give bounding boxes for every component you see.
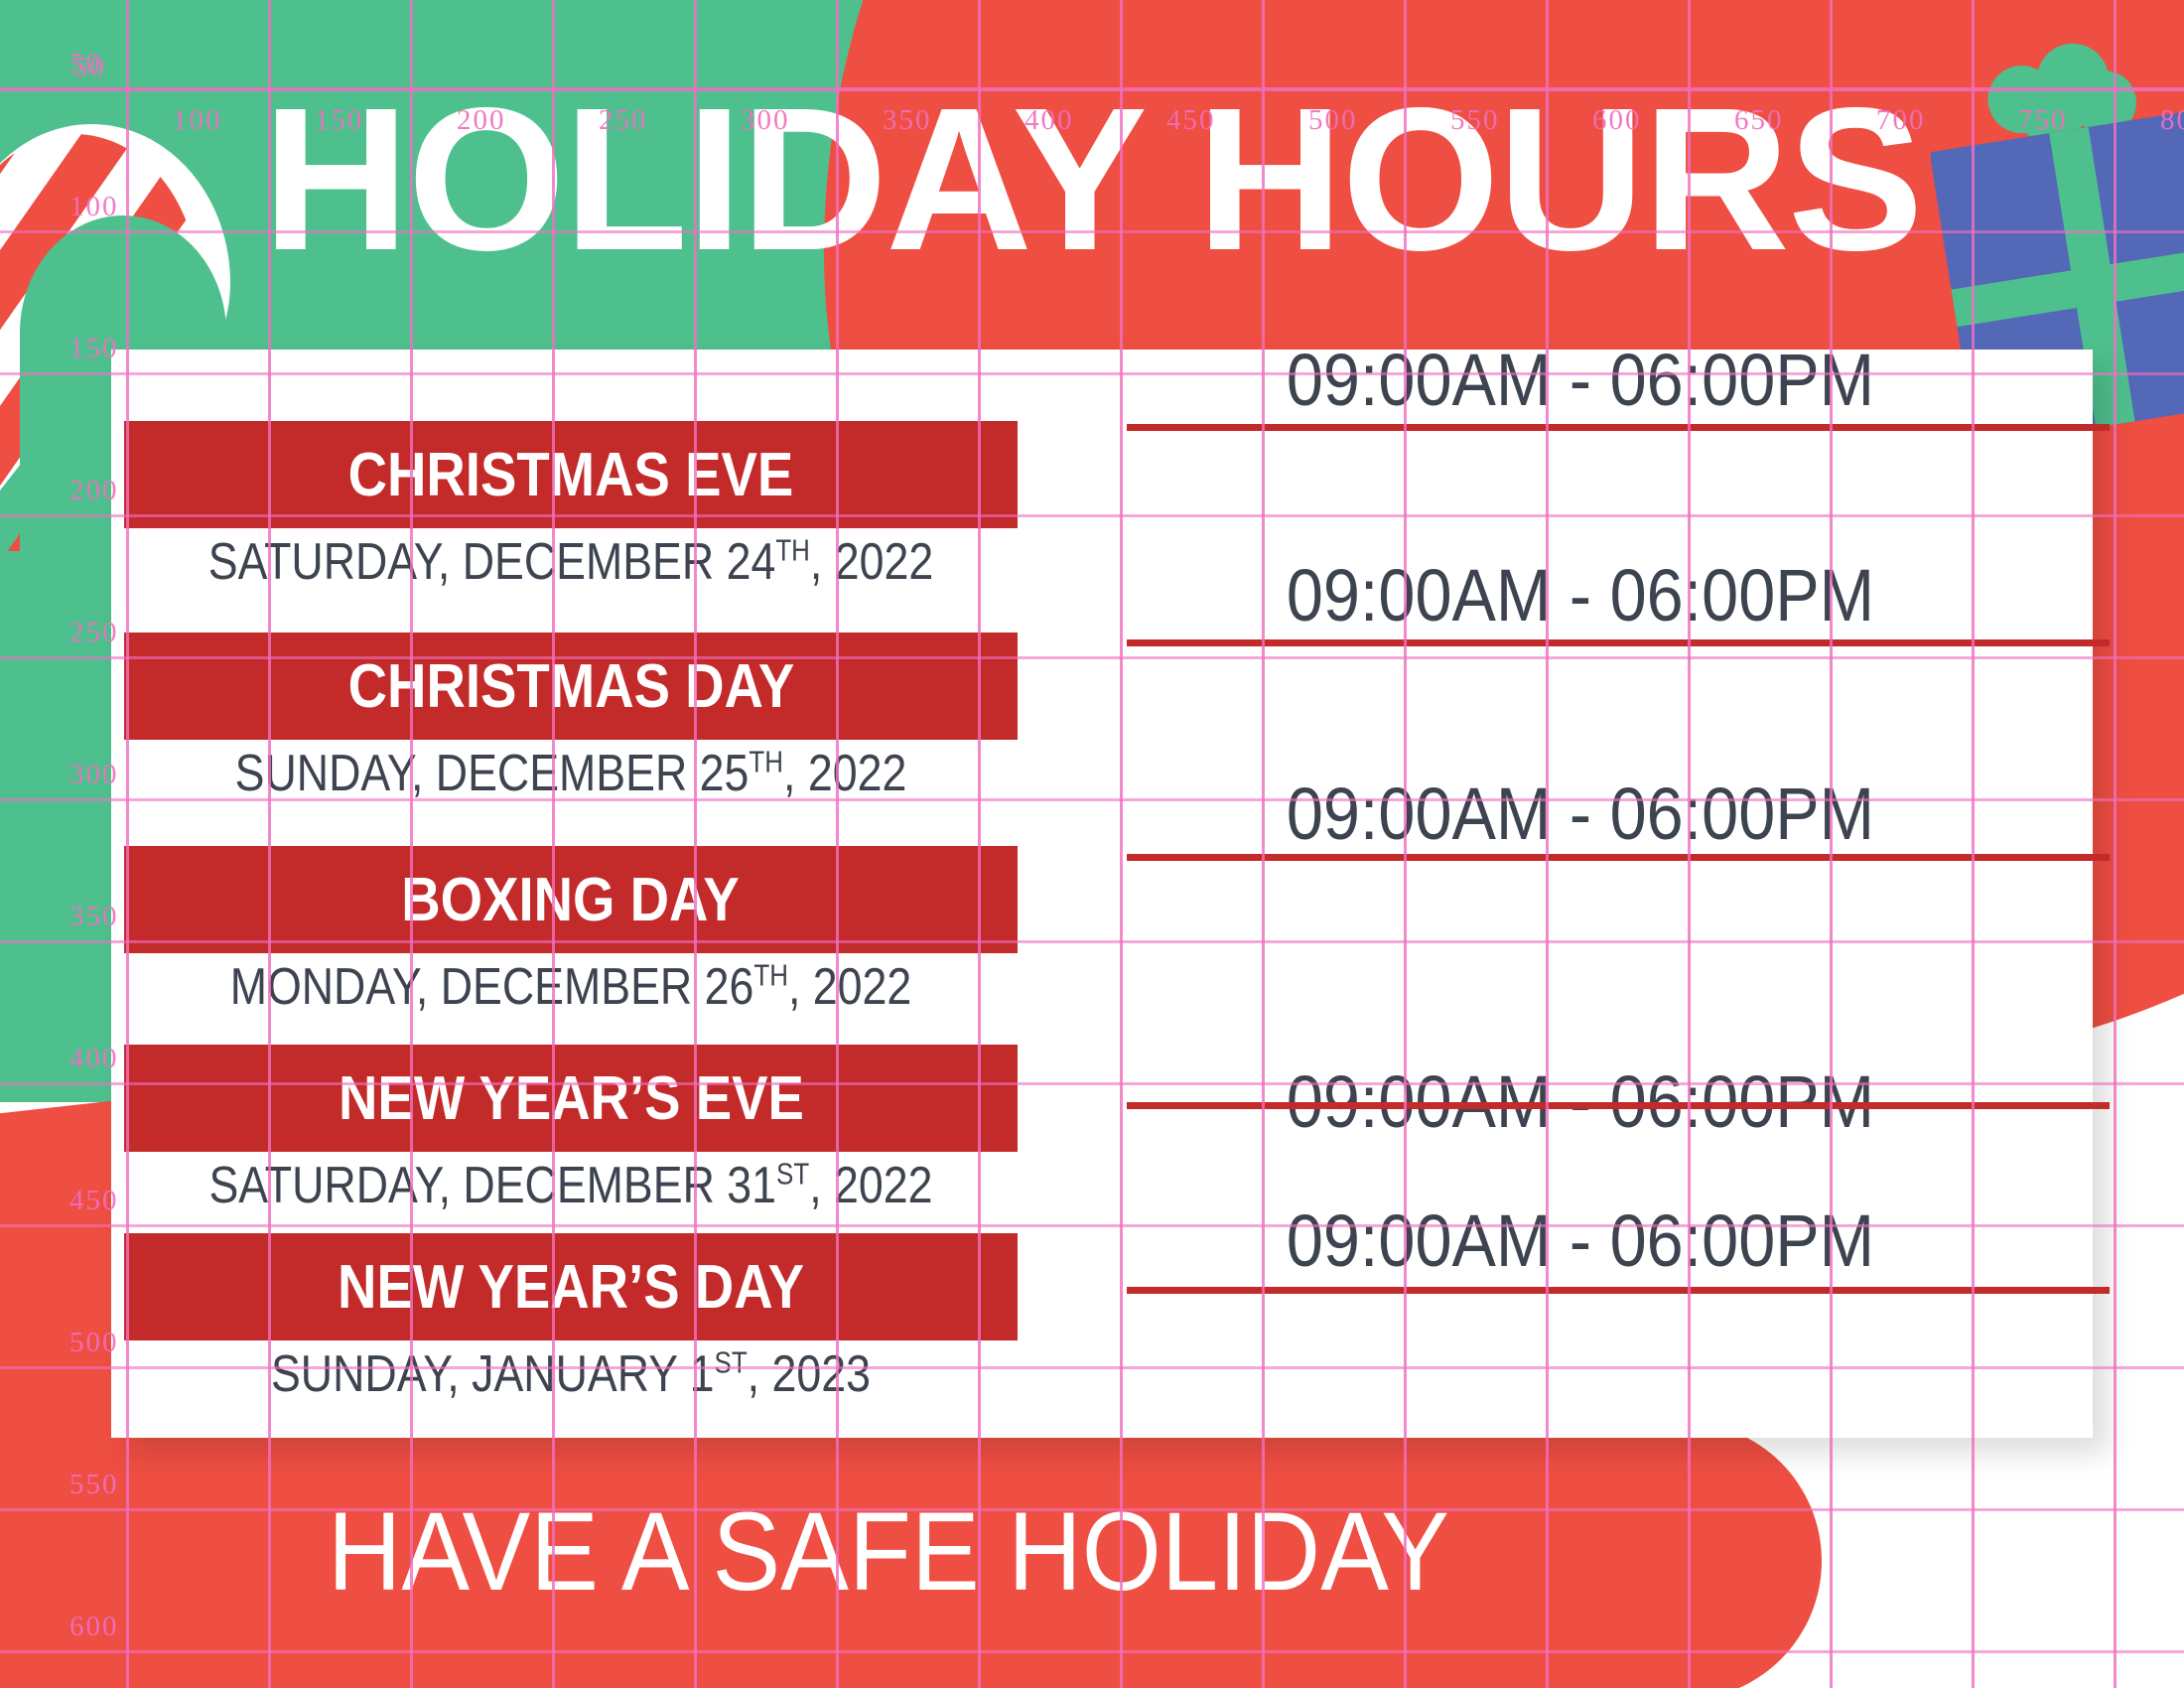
holiday-date: SATURDAY, DECEMBER 24TH, 2022 (187, 532, 955, 592)
holiday-name: CHRISTMAS DAY (347, 651, 794, 722)
holiday-hours-poster: HOLIDAY HOURS CHRISTMAS EVE SATURDAY, DE… (0, 0, 2184, 1688)
hours-underline (1127, 1287, 2110, 1294)
hours-underline (1127, 639, 2110, 646)
hours-underline (1127, 424, 2110, 431)
hours-underline (1127, 1102, 2110, 1109)
holiday-name: NEW YEAR’S DAY (338, 1252, 804, 1323)
holiday-name-bar: NEW YEAR’S DAY (124, 1233, 1018, 1340)
holiday-name-bar: CHRISTMAS DAY (124, 633, 1018, 740)
schedule-card: CHRISTMAS EVE SATURDAY, DECEMBER 24TH, 2… (111, 350, 2093, 1438)
holiday-hours: 09:00AM - 06:00PM (1134, 338, 2027, 422)
hours-underline (1127, 854, 2110, 861)
holiday-date: MONDAY, DECEMBER 26TH, 2022 (187, 957, 955, 1017)
holiday-hours: 09:00AM - 06:00PM (1134, 1198, 2027, 1283)
holiday-name: BOXING DAY (402, 865, 741, 935)
holiday-name: CHRISTMAS EVE (348, 440, 794, 510)
holiday-name-bar: CHRISTMAS EVE (124, 421, 1018, 528)
holiday-hours: 09:00AM - 06:00PM (1134, 772, 2027, 856)
holiday-hours: 09:00AM - 06:00PM (1134, 553, 2027, 637)
page-title: HOLIDAY HOURS (0, 77, 2184, 281)
holiday-name-bar: NEW YEAR’S EVE (124, 1045, 1018, 1152)
holiday-name-bar: BOXING DAY (124, 846, 1018, 953)
holiday-date: SUNDAY, DECEMBER 25TH, 2022 (187, 744, 955, 803)
holiday-date: SUNDAY, JANUARY 1ST, 2023 (187, 1344, 955, 1404)
holiday-date: SATURDAY, DECEMBER 31ST, 2022 (187, 1156, 955, 1215)
holiday-name: NEW YEAR’S EVE (339, 1063, 804, 1134)
footer-message: HAVE A SAFE HOLIDAY (71, 1487, 1706, 1616)
schedule-rows: CHRISTMAS EVE SATURDAY, DECEMBER 24TH, 2… (111, 350, 2093, 1438)
